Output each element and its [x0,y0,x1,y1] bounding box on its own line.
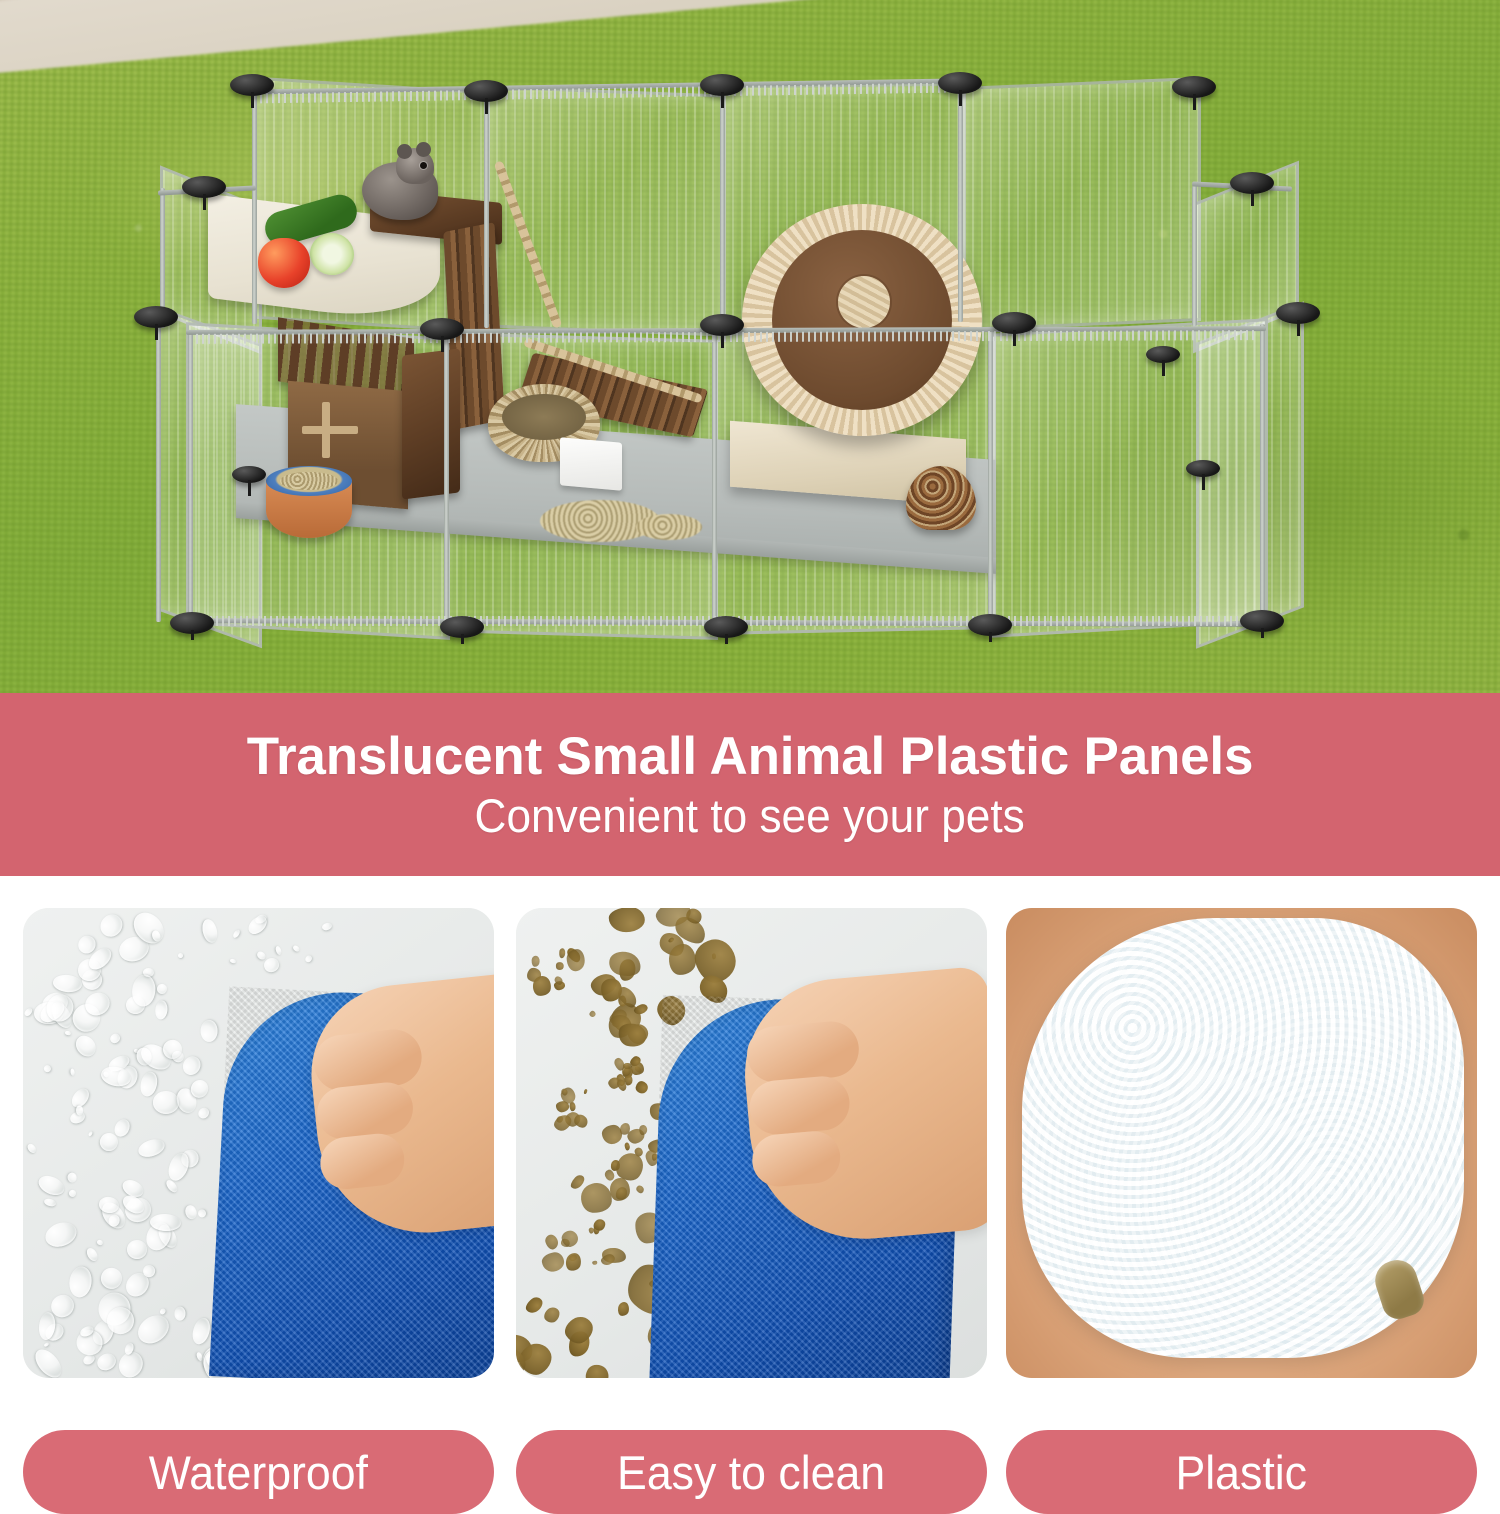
finger [745,1019,861,1085]
connector-top-back-3 [700,74,744,96]
seed-pile-small [636,514,702,540]
water-droplet [127,1240,147,1259]
hamster-ear-left [397,144,412,159]
exercise-wheel [742,204,982,436]
connector-foot-3 [704,616,748,638]
hamster [362,162,438,220]
post-back-3 [720,86,725,324]
finger [747,1074,851,1137]
finger [318,1131,407,1191]
panel-back-4 [960,77,1201,331]
connector-foot-4 [968,614,1012,636]
hamster-eye [420,162,427,169]
house-side-block [402,348,460,499]
finger [315,1080,416,1142]
hamster-head [396,148,434,184]
feature-photo-waterproof [23,908,494,1378]
connector-mid-3 [992,312,1036,334]
headline-banner: Translucent Small Animal Plastic Panels … [0,693,1500,876]
apple [258,238,310,288]
mineral-block [560,437,622,490]
connector-top-right [1230,172,1274,194]
water-droplet [70,1068,75,1076]
water-droplet [200,1019,217,1042]
mud-speck [638,1125,647,1135]
feature-label-text: Easy to clean [617,1449,885,1496]
feature-photo-plastic [1006,908,1477,1378]
post-back-4 [958,84,963,322]
post-front-1 [188,330,193,622]
post-front-4 [988,328,993,624]
finger [750,1129,842,1188]
connector-top-back-2 [464,80,508,102]
panel-front-4 [990,318,1268,638]
hero-product-photo [0,0,1500,693]
post-front-3 [712,332,717,626]
connector-top-left [182,176,226,198]
feature-label-text: Waterproof [149,1449,368,1496]
food-bowl-seeds [280,472,338,490]
connector-side-left [232,466,266,483]
connector-mid-left [134,306,178,328]
connector-side-right-upper [1146,346,1180,363]
hamster-ear-right [416,142,431,157]
feature-photo-easy-to-clean [516,908,987,1378]
connector-top-back-4 [938,72,982,94]
feature-label-pill-waterproof: Waterproof [23,1430,494,1514]
connector-mid-right [1276,302,1320,324]
connector-side-right [1186,460,1220,477]
feature-label-pill-plastic: Plastic [1006,1430,1477,1514]
feature-easy-to-clean: Easy to clean [516,908,987,1378]
feature-label-pill-easy-to-clean: Easy to clean [516,1430,987,1514]
connector-foot-5 [1240,610,1284,632]
post-back-1 [252,86,257,324]
connector-mid-1 [420,318,464,340]
connector-foot-2 [440,616,484,638]
post-front-5 [1260,324,1265,624]
food-bowl [266,480,352,538]
feature-row: Waterproof Easy to clean Plastic [0,876,1500,1486]
connector-top-back-5 [1172,76,1216,98]
nest-interior [502,394,586,440]
post-front-2 [444,336,449,626]
feature-waterproof: Waterproof [23,908,494,1378]
banner-title: Translucent Small Animal Plastic Panels [247,729,1253,785]
connector-foot-1 [170,612,214,634]
banner-subtitle: Convenient to see your pets [475,791,1025,840]
feature-plastic: Plastic [1006,908,1477,1378]
post-left-bottom [156,326,161,622]
feature-label-text: Plastic [1176,1449,1308,1496]
house-cross-horizontal [302,426,358,434]
playpen-assembly [0,0,1500,693]
exercise-wheel-hub [838,276,890,328]
connector-mid-2 [700,314,744,336]
post-back-2 [484,92,489,328]
connector-top-back-1 [230,74,274,96]
post-back-5 [1192,186,1197,326]
